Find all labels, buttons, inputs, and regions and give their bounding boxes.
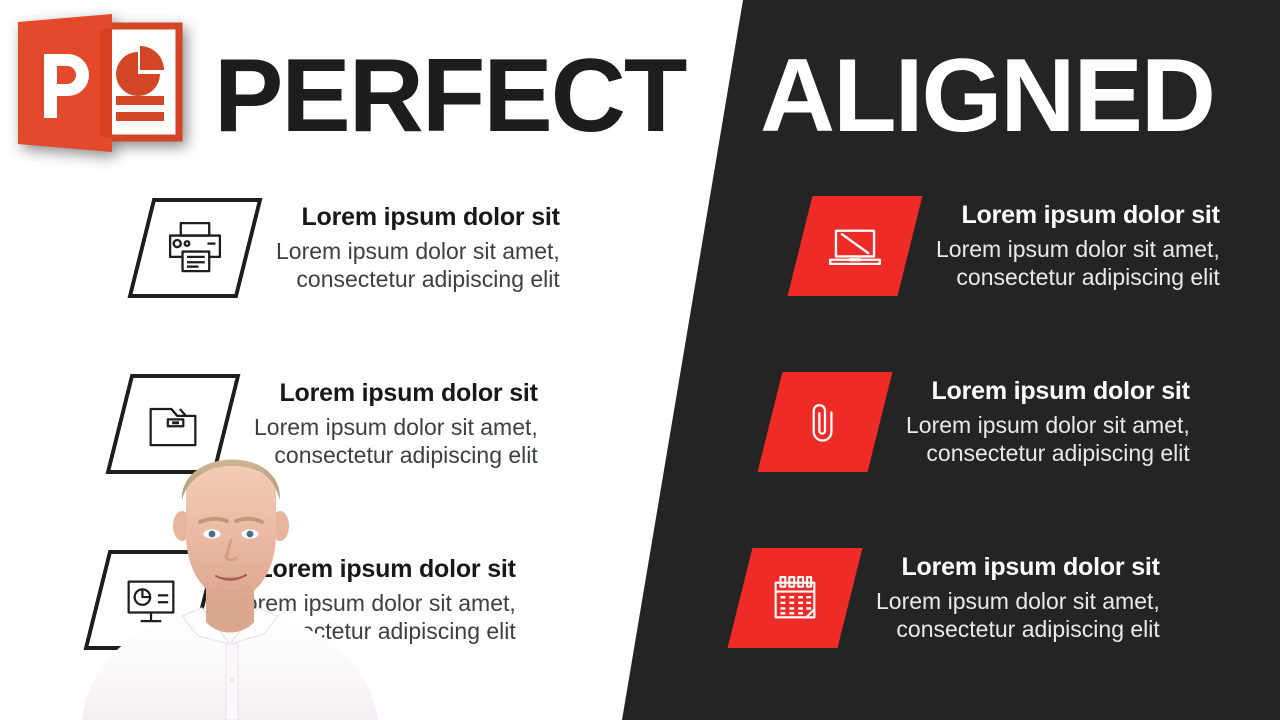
printer-icon [140, 198, 250, 298]
laptop-icon [800, 196, 910, 296]
feature-body-line-2: consectetur adipiscing elit [936, 263, 1220, 291]
feature-text-block: Lorem ipsum dolor sit Lorem ipsum dolor … [276, 203, 560, 294]
feature-title: Lorem ipsum dolor sit [276, 203, 560, 232]
feature-row-right-1[interactable]: Lorem ipsum dolor sit Lorem ipsum dolor … [800, 196, 1220, 296]
feature-title: Lorem ipsum dolor sit [232, 555, 516, 584]
feature-row-left-2[interactable]: Lorem ipsum dolor sit Lorem ipsum dolor … [118, 374, 538, 474]
presentation-chart-glyph [96, 550, 206, 650]
feature-row-right-3[interactable]: Lorem ipsum dolor sit Lorem ipsum dolor … [740, 548, 1160, 648]
feature-body-line-2: consectetur adipiscing elit [276, 265, 560, 293]
paperclip-glyph [770, 372, 880, 472]
feature-title: Lorem ipsum dolor sit [254, 379, 538, 408]
calendar-glyph [740, 548, 850, 648]
feature-text-block: Lorem ipsum dolor sit Lorem ipsum dolor … [876, 553, 1160, 644]
folder-box-icon [118, 374, 228, 474]
feature-body-line-1: Lorem ipsum dolor sit amet, [876, 587, 1160, 615]
feature-text-block: Lorem ipsum dolor sit Lorem ipsum dolor … [232, 555, 516, 646]
paperclip-icon [770, 372, 880, 472]
feature-text-block: Lorem ipsum dolor sit Lorem ipsum dolor … [254, 379, 538, 470]
feature-body-line-1: Lorem ipsum dolor sit amet, [906, 411, 1190, 439]
feature-body-line-1: Lorem ipsum dolor sit amet, [276, 237, 560, 265]
feature-row-right-2[interactable]: Lorem ipsum dolor sit Lorem ipsum dolor … [770, 372, 1190, 472]
feature-body-line-2: consectetur adipiscing elit [876, 615, 1160, 643]
powerpoint-logo [8, 12, 193, 164]
feature-row-left-3[interactable]: Lorem ipsum dolor sit Lorem ipsum dolor … [96, 550, 516, 650]
laptop-glyph [800, 196, 910, 296]
slide-canvas: PERFECT ALIGNED [0, 0, 1280, 720]
feature-body-line-1: Lorem ipsum dolor sit amet, [232, 589, 516, 617]
page-title-right: ALIGNED [760, 44, 1214, 148]
feature-body-line-2: consectetur adipiscing elit [232, 617, 516, 645]
printer-glyph [140, 198, 250, 298]
feature-title: Lorem ipsum dolor sit [906, 377, 1190, 406]
calendar-icon [740, 548, 850, 648]
feature-text-block: Lorem ipsum dolor sit Lorem ipsum dolor … [906, 377, 1190, 468]
feature-row-left-1[interactable]: Lorem ipsum dolor sit Lorem ipsum dolor … [140, 198, 560, 298]
feature-title: Lorem ipsum dolor sit [876, 553, 1160, 582]
feature-body-line-1: Lorem ipsum dolor sit amet, [254, 413, 538, 441]
folder-box-glyph [118, 374, 228, 474]
feature-title: Lorem ipsum dolor sit [936, 201, 1220, 230]
feature-body-line-1: Lorem ipsum dolor sit amet, [936, 235, 1220, 263]
slide-header: PERFECT ALIGNED [0, 0, 1280, 172]
feature-body-line-2: consectetur adipiscing elit [254, 441, 538, 469]
presentation-chart-icon [96, 550, 206, 650]
feature-body-line-2: consectetur adipiscing elit [906, 439, 1190, 467]
page-title-left: PERFECT [214, 44, 685, 148]
feature-text-block: Lorem ipsum dolor sit Lorem ipsum dolor … [936, 201, 1220, 292]
